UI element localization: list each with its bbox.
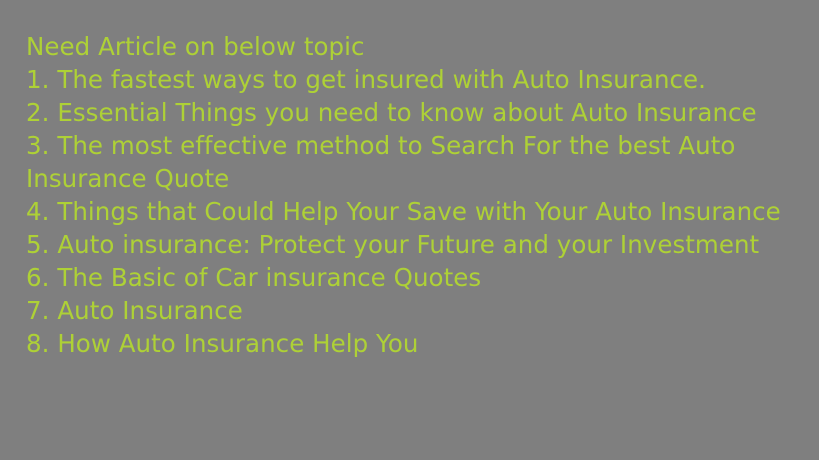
page-title: Need Article on below topic — [26, 30, 786, 63]
list-item: 7. Auto Insurance — [26, 294, 786, 327]
slide-canvas: Need Article on below topic 1. The faste… — [0, 0, 819, 460]
list-item: 3. The most effective method to Search F… — [26, 129, 786, 195]
list-item: 6. The Basic of Car insurance Quotes — [26, 261, 786, 294]
list-item: 5. Auto insurance: Protect your Future a… — [26, 228, 786, 261]
list-item: 4. Things that Could Help Your Save with… — [26, 195, 786, 228]
list-item: 2. Essential Things you need to know abo… — [26, 96, 786, 129]
topic-list-block: Need Article on below topic 1. The faste… — [26, 30, 786, 360]
list-item: 8. How Auto Insurance Help You — [26, 327, 786, 360]
list-item: 1. The fastest ways to get insured with … — [26, 63, 786, 96]
